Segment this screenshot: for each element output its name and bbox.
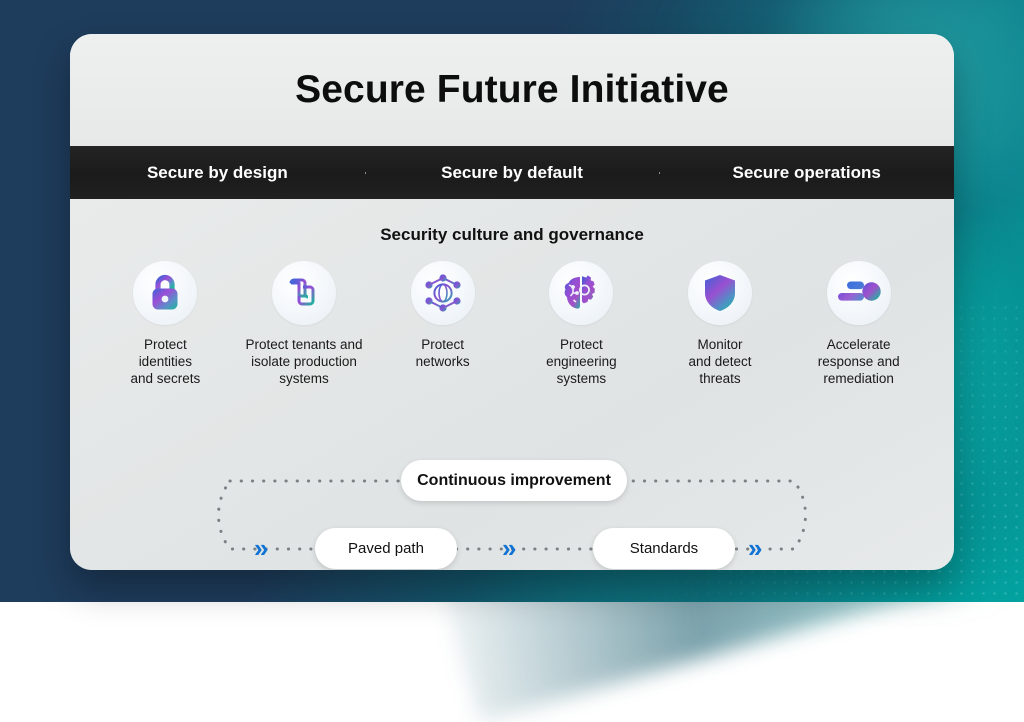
capability-label: Protect identities and secrets [130, 336, 200, 387]
pill-label: Continuous improvement [417, 472, 611, 490]
pillar-label: Secure by default [441, 163, 583, 183]
capability-label: Protect engineering systems [546, 336, 617, 387]
card-header: Secure Future Initiative [70, 34, 954, 146]
chevron-right-icon: » [254, 535, 266, 561]
accelerate-icon [837, 276, 881, 310]
capability-protect-tenants[interactable]: Protect tenants and isolate production s… [235, 261, 374, 387]
capability-label: Protect networks [416, 336, 470, 370]
capability-badge [133, 261, 197, 325]
governance-title: Security culture and governance [70, 199, 954, 245]
pill-continuous-improvement[interactable]: Continuous improvement [401, 460, 627, 501]
continuous-improvement-loop: Continuous improvement Paved path Standa… [70, 461, 954, 570]
padlock-icon [148, 274, 182, 312]
chevron-right-icon: » [748, 535, 760, 561]
card-body: Security culture and governance Prot [70, 199, 954, 570]
capability-protect-networks[interactable]: Protect networks [373, 261, 512, 387]
capability-label: Monitor and detect threats [688, 336, 751, 387]
pillar-secure-by-default[interactable]: Secure by default [365, 163, 660, 183]
capabilities-row: Protect identities and secrets [70, 245, 954, 387]
pillars-bar: Secure by design Secure by default Secur… [70, 146, 954, 199]
pillar-secure-by-design[interactable]: Secure by design [70, 163, 365, 183]
pillar-label: Secure by design [147, 163, 288, 183]
pillar-secure-operations[interactable]: Secure operations [659, 163, 954, 183]
network-globe-icon [423, 273, 463, 313]
secure-future-initiative-card: Secure Future Initiative Secure by desig… [70, 34, 954, 570]
tenants-isolation-icon [283, 276, 325, 310]
capability-label: Protect tenants and isolate production s… [245, 336, 362, 387]
pill-label: Paved path [348, 540, 424, 557]
capability-badge [411, 261, 475, 325]
capability-accelerate-response[interactable]: Accelerate response and remediation [789, 261, 928, 387]
capability-label: Accelerate response and remediation [818, 336, 900, 387]
capability-badge [688, 261, 752, 325]
capability-badge [827, 261, 891, 325]
pill-standards[interactable]: Standards [593, 528, 735, 569]
brain-gear-icon [561, 273, 601, 313]
capability-protect-engineering[interactable]: Protect engineering systems [512, 261, 651, 387]
chevron-right-icon: » [502, 535, 514, 561]
pill-label: Standards [630, 540, 698, 557]
capability-badge [272, 261, 336, 325]
page-title: Secure Future Initiative [295, 68, 729, 112]
pillar-label: Secure operations [733, 163, 881, 183]
capability-protect-identities[interactable]: Protect identities and secrets [96, 261, 235, 387]
pill-paved-path[interactable]: Paved path [315, 528, 457, 569]
shield-icon [702, 273, 738, 313]
capability-monitor-threats[interactable]: Monitor and detect threats [651, 261, 790, 387]
capability-badge [549, 261, 613, 325]
